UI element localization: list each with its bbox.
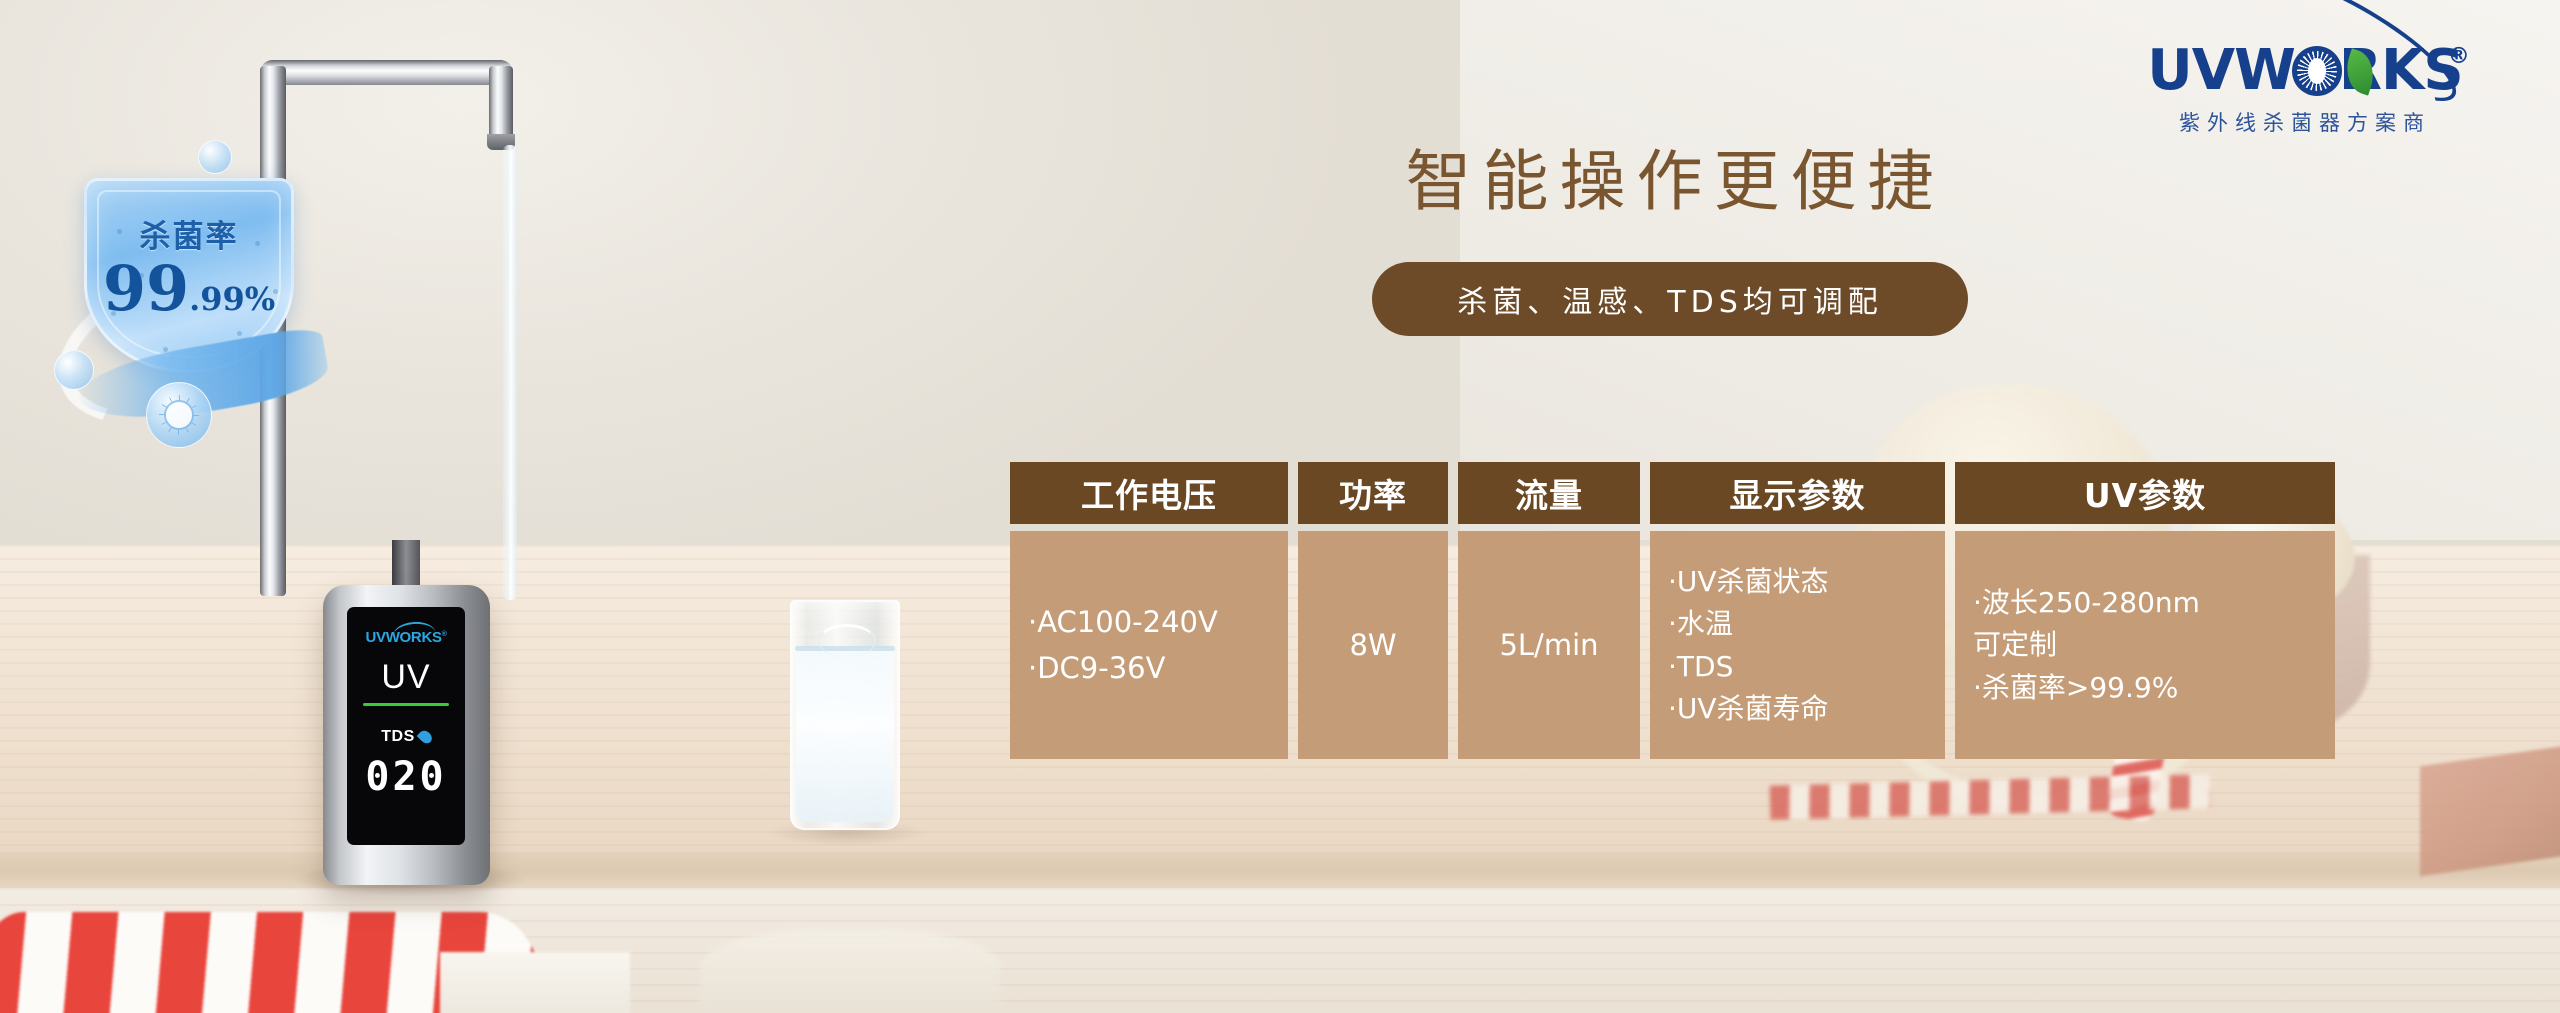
spec-column: 工作电压·AC100-240V·DC9-36V <box>1010 462 1288 759</box>
water-drop-icon <box>416 728 434 746</box>
brand-logo: UVWRKS ® 紫外线杀菌器方案商 <box>2105 38 2505 137</box>
brand-logo-text-prefix: UVW <box>2147 38 2295 103</box>
spec-column-body: 5L/min <box>1458 531 1640 759</box>
badge-value-big: 99 <box>103 260 189 319</box>
spec-column-body: ·波长250-280nm可定制·杀菌率>99.9% <box>1955 531 2335 759</box>
sterilization-rate-badge: 杀菌率 99 .99% <box>48 150 333 430</box>
spec-item: 5L/min <box>1499 629 1598 661</box>
wood-blocks-secondary <box>2470 725 2560 864</box>
spec-item: 8W <box>1349 629 1396 661</box>
spec-column-body: ·UV杀菌状态·水温·TDS·UV杀菌寿命 <box>1650 531 1945 759</box>
water-glass <box>790 600 900 830</box>
spec-column-header: 流量 <box>1458 462 1640 524</box>
badge-value-small: .99% <box>189 280 275 318</box>
page-title: 智能操作更便捷 <box>1355 128 1995 224</box>
bubble-icon-medium <box>54 350 94 390</box>
sunburst-icon <box>2292 46 2342 96</box>
spec-item: ·AC100-240V <box>1028 606 1270 638</box>
plate <box>700 930 1000 1013</box>
germ-icon <box>166 402 192 428</box>
glass-water-body <box>796 648 894 822</box>
registered-trademark-icon: ® <box>2448 44 2469 69</box>
spec-column-header: 显示参数 <box>1650 462 1945 524</box>
brand-logo-wordmark: UVWRKS ® <box>2147 38 2462 103</box>
spec-item: 可定制 <box>1973 629 2317 660</box>
spec-column: 功率8W <box>1298 462 1448 759</box>
device-tds-value: 020 <box>365 754 446 800</box>
spec-column: 流量5L/min <box>1458 462 1640 759</box>
device-screen-logo: UVWORKS® <box>365 629 446 646</box>
brand-tagline: 紫外线杀菌器方案商 <box>2105 107 2505 137</box>
device-mode-label: UV <box>381 658 430 697</box>
spec-item: ·TDS <box>1668 651 1927 682</box>
spec-column: 显示参数·UV杀菌状态·水温·TDS·UV杀菌寿命 <box>1650 462 1945 759</box>
spec-column-body: 8W <box>1298 531 1448 759</box>
badge-percentage: 99 .99% <box>103 260 275 319</box>
device-display-screen: UVWORKS® UV TDS 020 <box>347 607 465 845</box>
spec-column-body: ·AC100-240V·DC9-36V <box>1010 531 1288 759</box>
spec-item: ·UV杀菌寿命 <box>1668 693 1927 724</box>
spec-column: UV参数·波长250-280nm可定制·杀菌率>99.9% <box>1955 462 2335 759</box>
spec-column-header: 功率 <box>1298 462 1448 524</box>
spec-item: ·杀菌率>99.9% <box>1973 672 2317 703</box>
spec-table: 工作电压·AC100-240V·DC9-36V功率8W流量5L/min显示参数·… <box>1010 462 2305 759</box>
white-cloth <box>440 952 630 1013</box>
faucet-spout-drop <box>489 66 513 141</box>
bubble-icon-small <box>198 140 232 174</box>
water-stream <box>503 145 517 600</box>
device-status-line <box>363 703 449 706</box>
device-tds-label: TDS <box>381 728 415 746</box>
spec-column-header: 工作电压 <box>1010 462 1288 524</box>
spec-column-header: UV参数 <box>1955 462 2335 524</box>
uv-sterilizer-device: UVWORKS® UV TDS 020 <box>323 585 490 885</box>
subtitle-pill: 杀菌、温感、TDS均可调配 <box>1372 262 1968 336</box>
spec-item: ·DC9-36V <box>1028 652 1270 684</box>
spec-item: ·水温 <box>1668 608 1927 639</box>
device-tds-row: TDS <box>381 728 431 746</box>
water-splash <box>818 624 876 658</box>
faucet-horizontal-arm <box>260 60 513 85</box>
spec-item: ·波长250-280nm <box>1973 587 2317 618</box>
device-logo-registered: ® <box>442 631 447 638</box>
spec-item: ·UV杀菌状态 <box>1668 566 1927 597</box>
badge-label: 杀菌率 <box>140 211 239 256</box>
